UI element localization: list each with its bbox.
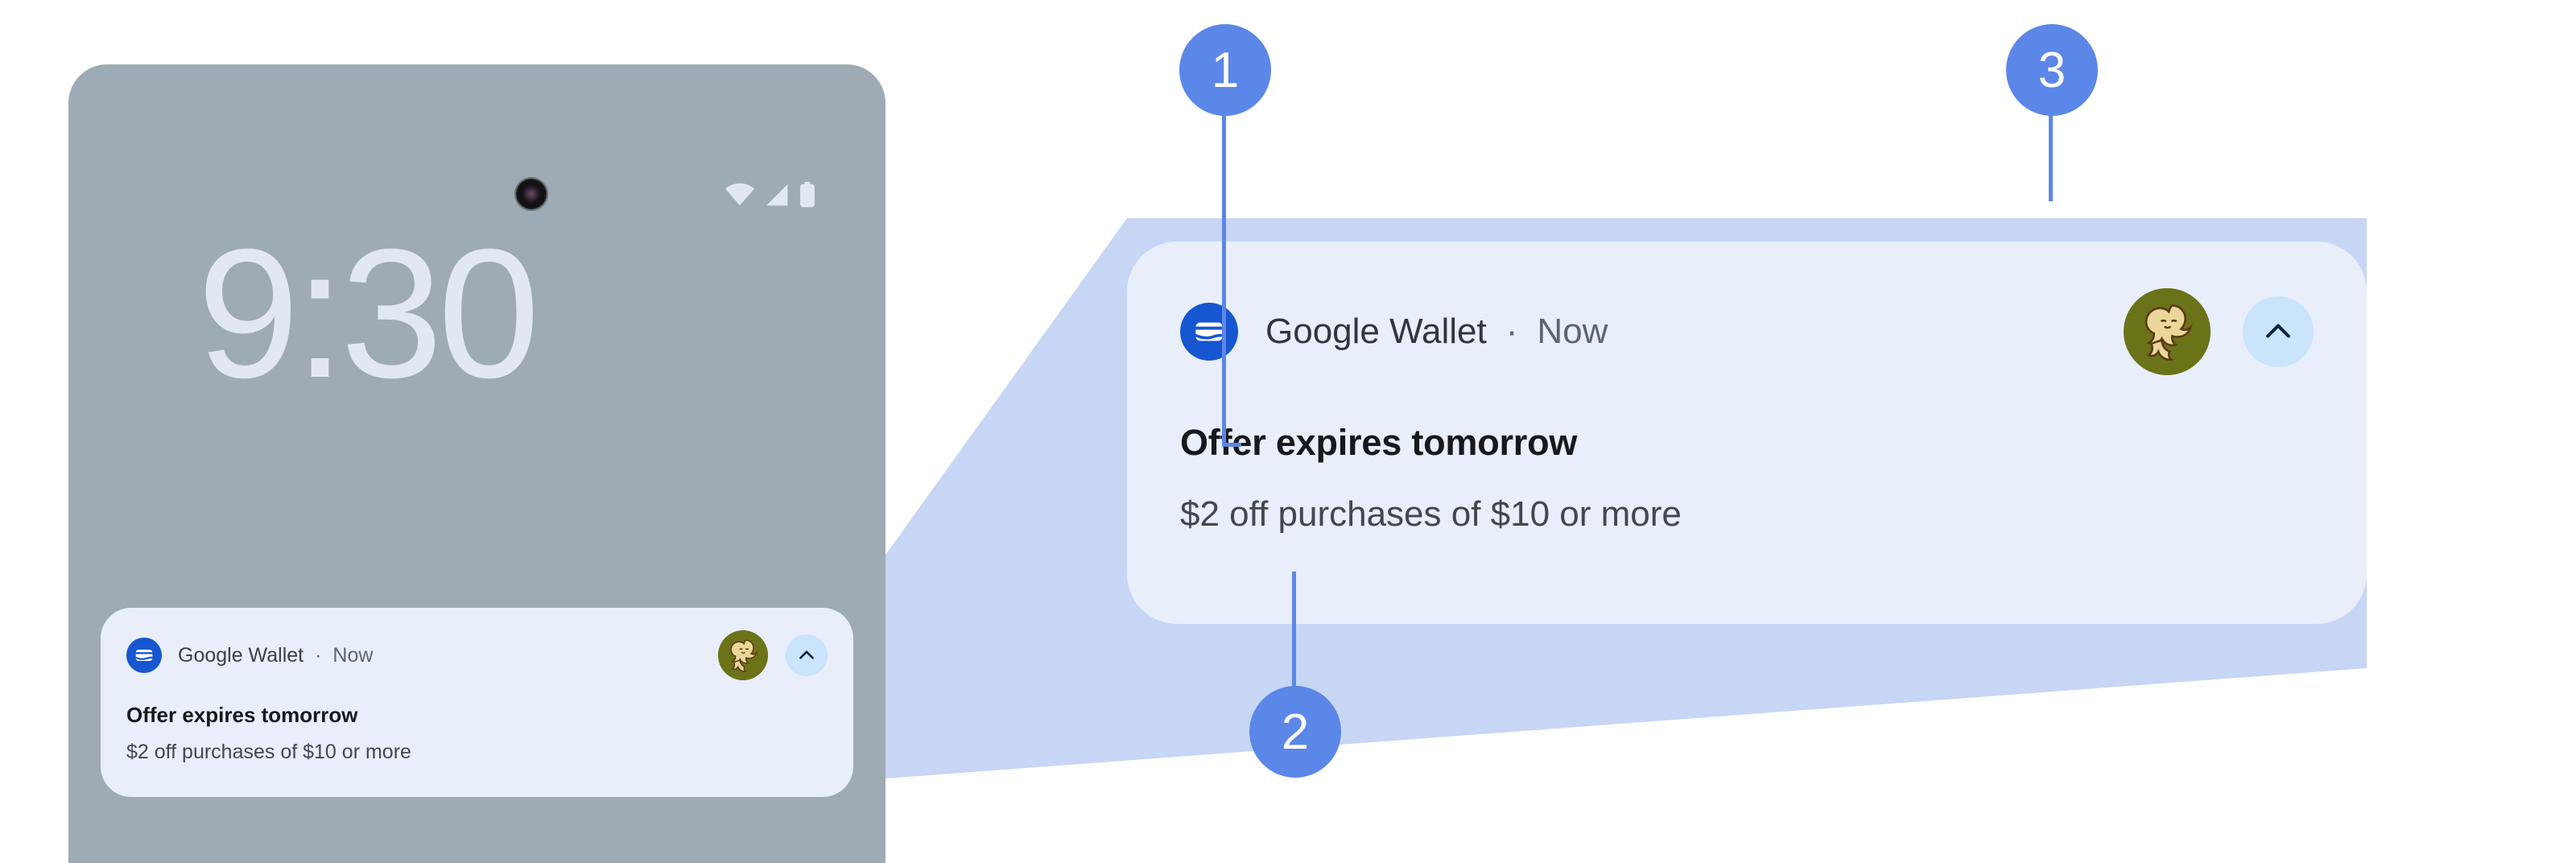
status-bar — [724, 179, 816, 211]
expand-notification-button[interactable] — [786, 634, 828, 676]
front-camera-icon — [516, 179, 547, 209]
callout-badge-2: 2 — [1249, 686, 1341, 778]
notification-header-large: Google Wallet · Now — [1180, 288, 2314, 375]
notification-card-small[interactable]: Google Wallet · Now — [101, 608, 853, 797]
callout-badge-1: 1 — [1179, 24, 1271, 116]
notification-title: Offer expires tomorrow — [1180, 422, 2314, 464]
battery-icon — [799, 182, 816, 208]
notification-time: Now — [332, 644, 373, 667]
notification-separator: · — [315, 644, 321, 667]
merchant-avatar — [718, 630, 768, 680]
callout-leader-1 — [1222, 113, 1226, 447]
cellular-signal-icon — [763, 183, 791, 207]
notification-separator: · — [1506, 312, 1518, 352]
wifi-icon — [724, 183, 755, 207]
notification-time: Now — [1537, 312, 1608, 352]
notification-app-name: Google Wallet — [178, 644, 303, 667]
google-wallet-icon — [1180, 303, 1238, 361]
screenshot-canvas: 9:30 Google Wallet · Now — [0, 0, 2576, 863]
phone-frame: 9:30 Google Wallet · Now — [68, 64, 885, 863]
notification-card-large[interactable]: Google Wallet · Now Offer — [1127, 242, 2367, 624]
merchant-avatar — [2124, 288, 2211, 375]
notification-body: $2 off purchases of $10 or more — [1180, 494, 2314, 535]
notification-header-small: Google Wallet · Now — [126, 630, 828, 680]
callout-badge-3: 3 — [2006, 24, 2098, 116]
expand-notification-button[interactable] — [2243, 296, 2314, 367]
notification-app-name: Google Wallet — [1265, 312, 1487, 352]
notification-title: Offer expires tomorrow — [126, 703, 828, 728]
callout-leader-2 — [1292, 572, 1296, 691]
google-wallet-icon — [126, 638, 162, 673]
callout-leader-1-elbow — [1222, 443, 1241, 447]
notification-body: $2 off purchases of $10 or more — [126, 741, 828, 764]
callout-leader-3 — [2049, 113, 2053, 201]
lockscreen-clock: 9:30 — [197, 222, 535, 406]
